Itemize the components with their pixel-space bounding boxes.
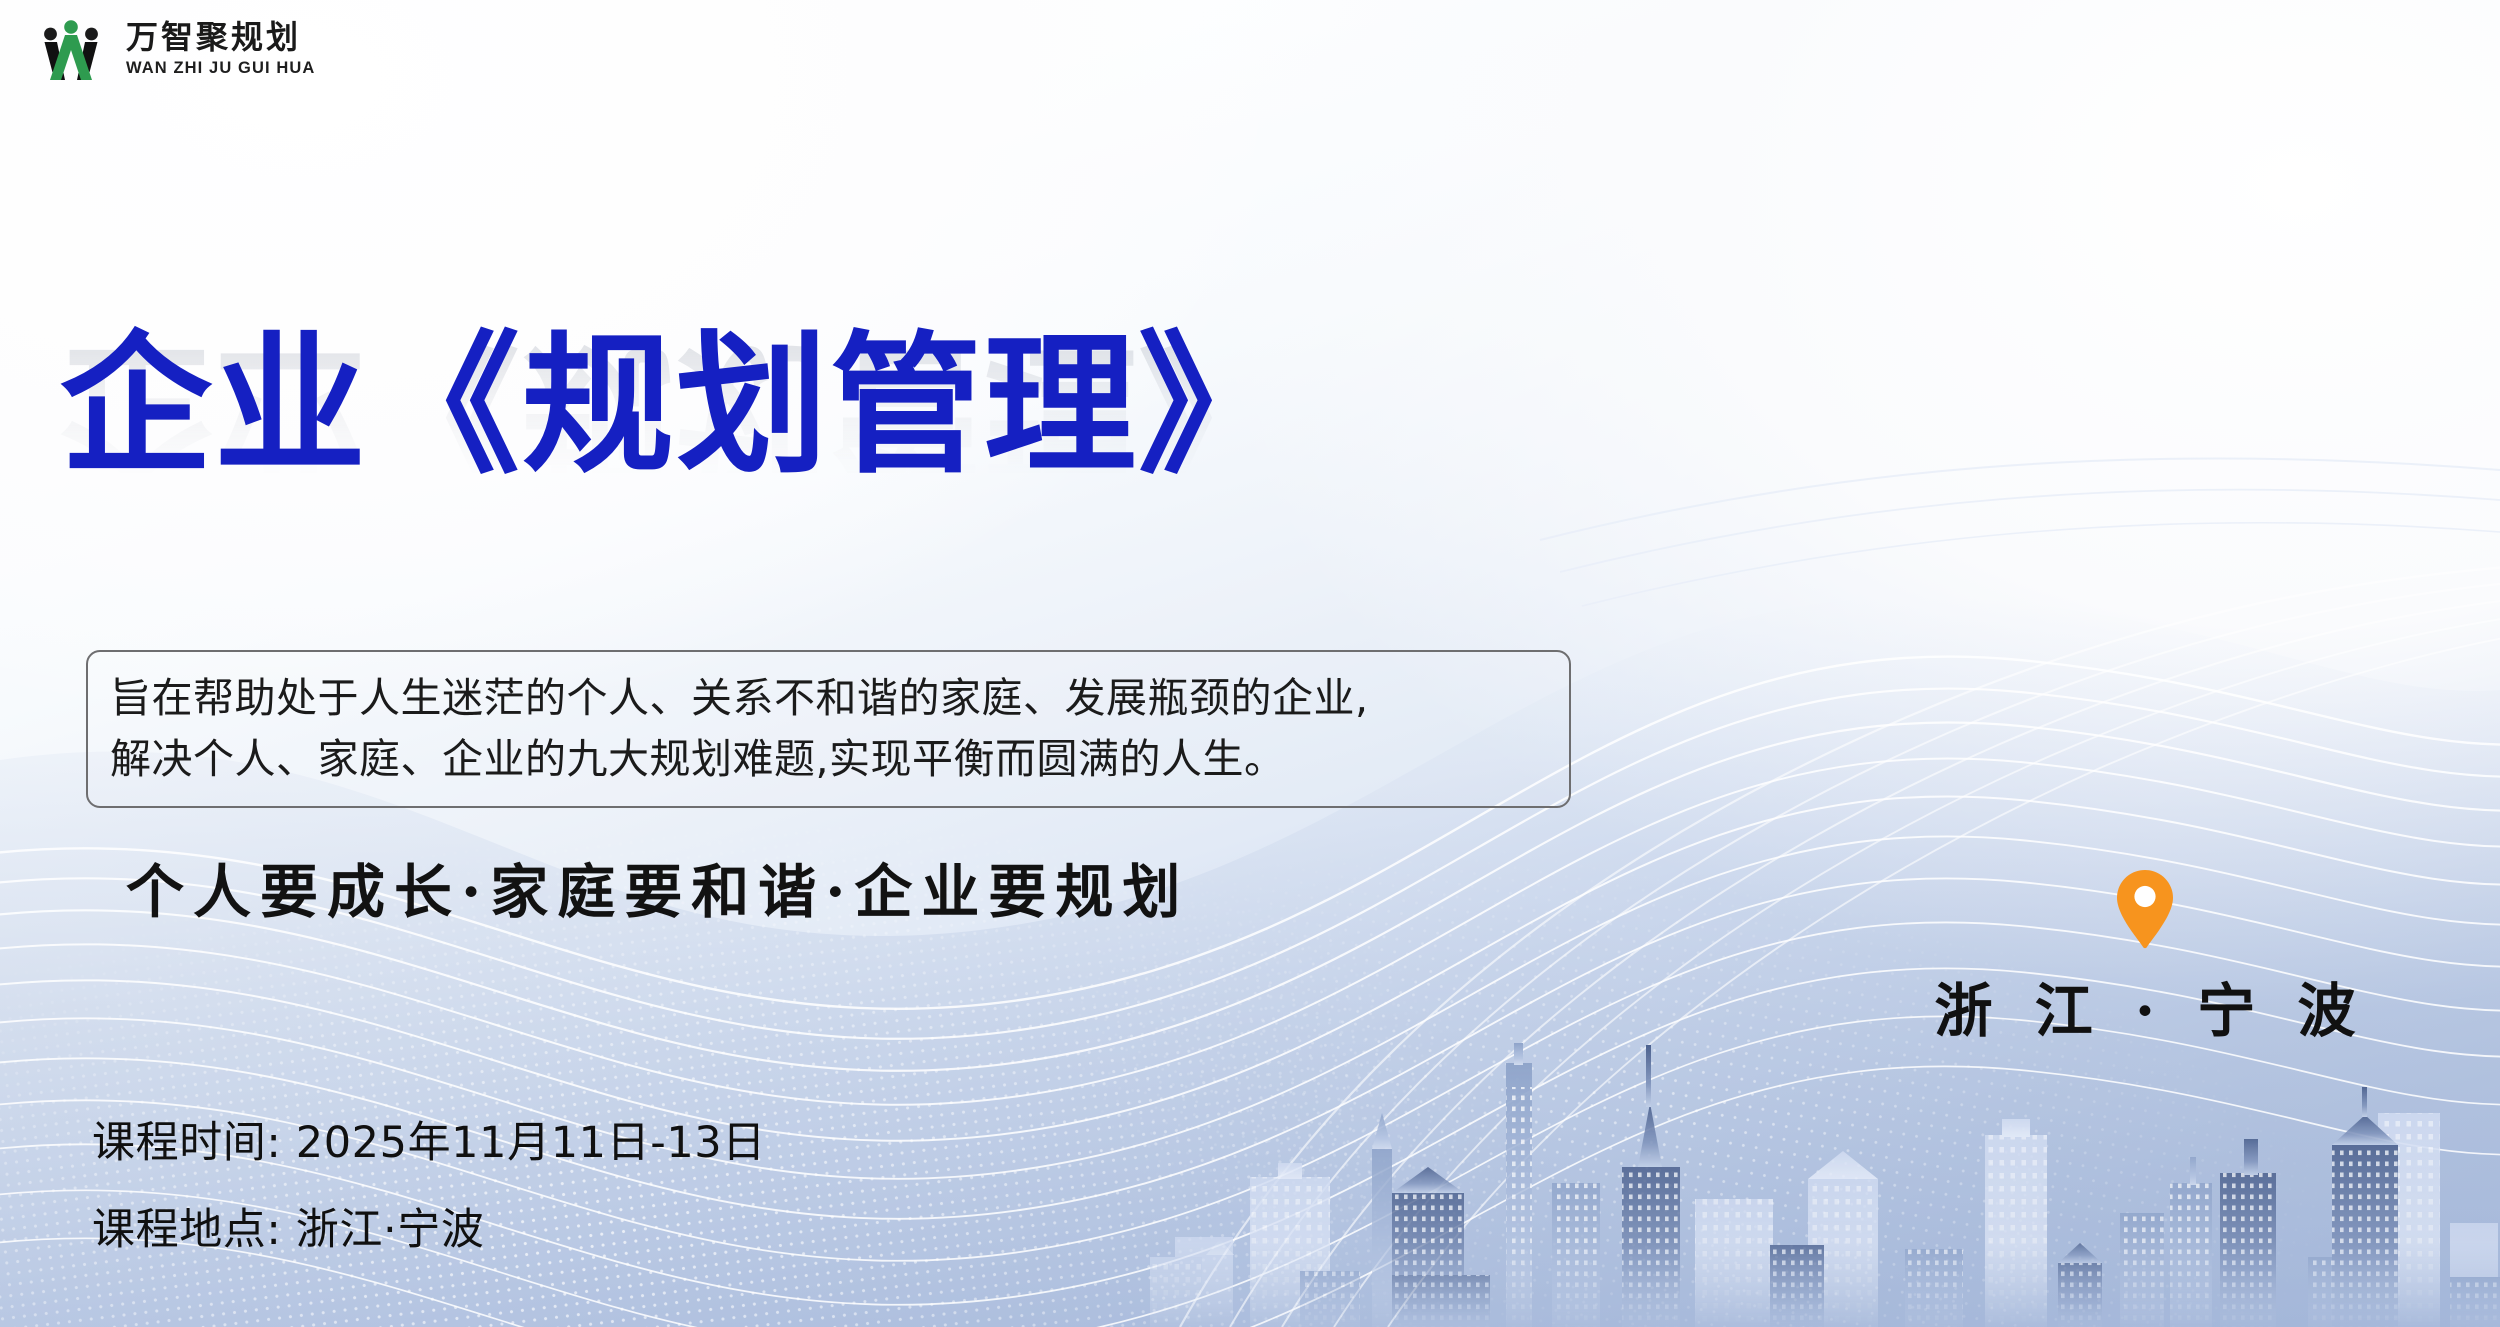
brand-name-en: WAN ZHI JU GUI HUA <box>126 59 315 78</box>
course-time: 课程时间: 2025年11月11日-13日 <box>92 1122 766 1165</box>
location-city: 浙 江 · 宁 波 <box>1924 964 2367 1048</box>
page-title: 企业《规划管理》 <box>60 330 1620 482</box>
description-line-2: 解决个人、家庭、企业的九大规划难题,实现平衡而圆满的人生。 <box>110 729 1549 790</box>
location-block: 浙 江 · 宁 波 <box>1955 868 2335 1048</box>
three-people-logo-icon <box>32 14 110 84</box>
city-skyline-icon <box>1150 1027 2500 1327</box>
map-pin-icon <box>2113 868 2177 950</box>
slogan-text: 个人要成长·家庭要和谐·企业要规划 <box>126 845 1189 929</box>
description-line-1: 旨在帮助处于人生迷茫的个人、关系不和谐的家庭、发展瓶颈的企业, <box>110 668 1549 729</box>
poster-canvas: 万智聚规划 WAN ZHI JU GUI HUA 企业《规划管理》 企业《规划管… <box>0 0 2500 1327</box>
description-box: 旨在帮助处于人生迷茫的个人、关系不和谐的家庭、发展瓶颈的企业, 解决个人、家庭、… <box>86 650 1571 808</box>
course-info-block: 课程时间: 2025年11月11日-13日 课程地点: 浙江·宁波 <box>92 1122 766 1252</box>
brand-logo[interactable]: 万智聚规划 WAN ZHI JU GUI HUA <box>32 14 315 84</box>
course-place: 课程地点: 浙江·宁波 <box>92 1209 766 1252</box>
hero-title-block: 企业《规划管理》 企业《规划管理》 <box>60 330 1620 630</box>
brand-name-cn: 万智聚规划 <box>126 20 315 55</box>
brand-text-block: 万智聚规划 WAN ZHI JU GUI HUA <box>126 20 315 79</box>
